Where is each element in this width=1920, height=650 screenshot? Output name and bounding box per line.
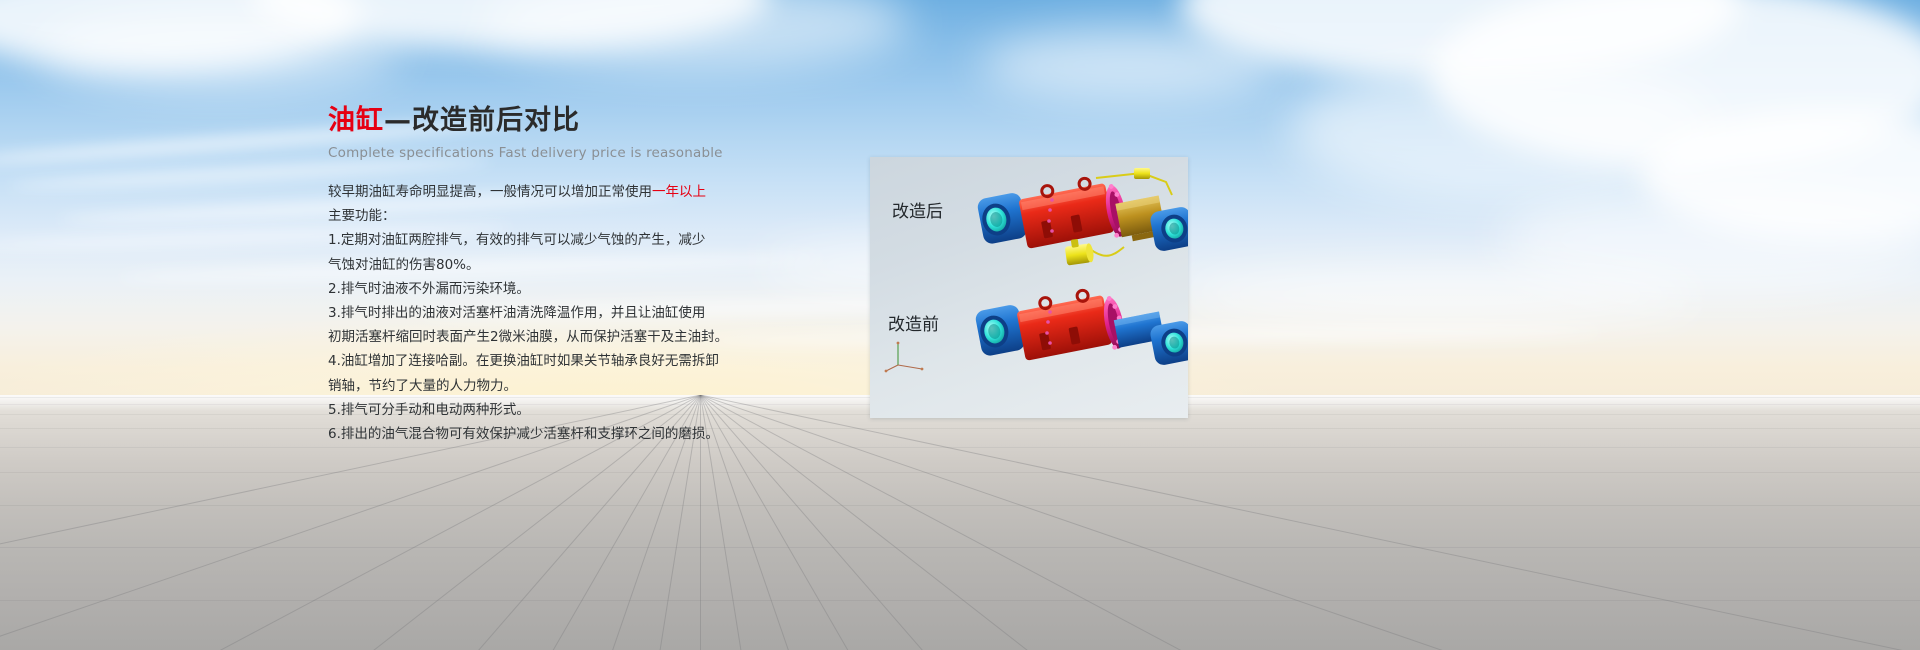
body-line-7: 初期活塞杆缩回时表面产生2微米油膜，从而保护活塞干及主油封。 — [328, 325, 758, 349]
page-title: 油缸—改造前后对比 — [328, 104, 758, 138]
cloud-shape — [1180, 265, 1700, 325]
body-line-10: 5.排气可分手动和电动两种形式。 — [328, 398, 758, 422]
body-line-1: 较早期油缸寿命明显提高，一般情况可以增加正常使用一年以上 — [328, 180, 758, 204]
ground-pavement — [0, 395, 1920, 650]
page-title-highlight: 油缸 — [328, 105, 384, 136]
label-before-modification: 改造前 — [888, 310, 939, 335]
page-title-rest: —改造前后对比 — [384, 105, 580, 136]
comparison-image-panel: 改造后 改造前 — [870, 157, 1188, 418]
body-line-3: 1.定期对油缸两腔排气，有效的排气可以减少气蚀的产生，减少 — [328, 228, 758, 252]
cloud-shape — [980, 30, 1280, 100]
body-line-8: 4.油缸增加了连接哈副。在更换油缸时如果关节轴承良好无需拆卸 — [328, 349, 758, 373]
axis-triad-icon — [884, 335, 928, 373]
body-line-1-highlight: 一年以上 — [652, 184, 706, 200]
page-subtitle: Complete specifications Fast delivery pr… — [328, 145, 758, 161]
body-line-4: 气蚀对油缸的伤害80%。 — [328, 253, 758, 277]
body-line-5: 2.排气时油液不外漏而污染环境。 — [328, 277, 758, 301]
feature-list: 较早期油缸寿命明显提高，一般情况可以增加正常使用一年以上 主要功能： 1.定期对… — [328, 180, 758, 446]
body-line-11: 6.排出的油气混合物可有效保护减少活塞杆和支撑环之间的磨损。 — [328, 422, 758, 446]
cylinder-assembly-before — [964, 275, 1188, 395]
cylinder-assembly-after — [966, 165, 1188, 285]
body-line-1-text: 较早期油缸寿命明显提高，一般情况可以增加正常使用 — [328, 184, 652, 200]
body-line-6: 3.排气时排出的油液对活塞杆油清洗降温作用，并且让油缸使用 — [328, 301, 758, 325]
body-line-9: 销轴，节约了大量的人力物力。 — [328, 374, 758, 398]
label-after-modification: 改造后 — [892, 197, 943, 222]
hero-text-column: 油缸—改造前后对比 Complete specifications Fast d… — [328, 104, 758, 446]
body-line-2: 主要功能： — [328, 204, 758, 228]
hero-banner: 油缸—改造前后对比 Complete specifications Fast d… — [0, 0, 1920, 650]
